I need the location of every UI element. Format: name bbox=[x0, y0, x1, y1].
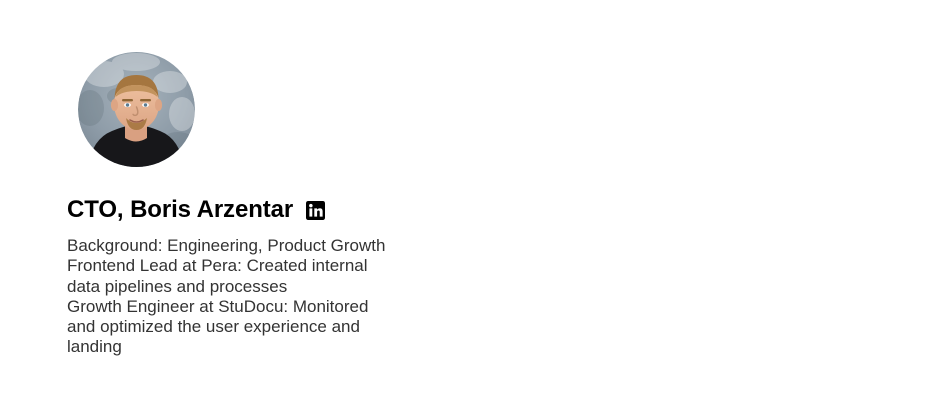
profile-card-cto: CTO, Boris Arzentar Background: Engineer… bbox=[0, 0, 490, 412]
page-title: CTO, Boris Arzentar bbox=[67, 197, 293, 223]
bio-line: Frontend Lead at Pera: Created internal bbox=[67, 256, 412, 276]
profile-card-ceo: CEO, Vasilije Markovic Background: Busin… bbox=[490, 0, 948, 412]
avatar-boris-arzentar bbox=[78, 52, 195, 167]
bio-line: Growth Engineer at StuDocu: Monitored bbox=[67, 297, 412, 317]
bio-line: and optimized the user experience and bbox=[67, 317, 412, 337]
linkedin-icon[interactable] bbox=[306, 201, 325, 220]
team-profiles-grid: CTO, Boris Arzentar Background: Engineer… bbox=[0, 0, 948, 412]
bio-line: data pipelines and processes bbox=[67, 277, 412, 297]
profile-bio-cto: Background: Engineering, Product Growth … bbox=[67, 236, 412, 358]
profile-name-row-cto: CTO, Boris Arzentar bbox=[67, 197, 325, 223]
bio-line: Background: Engineering, Product Growth bbox=[67, 236, 412, 256]
bio-line: landing bbox=[67, 337, 412, 357]
